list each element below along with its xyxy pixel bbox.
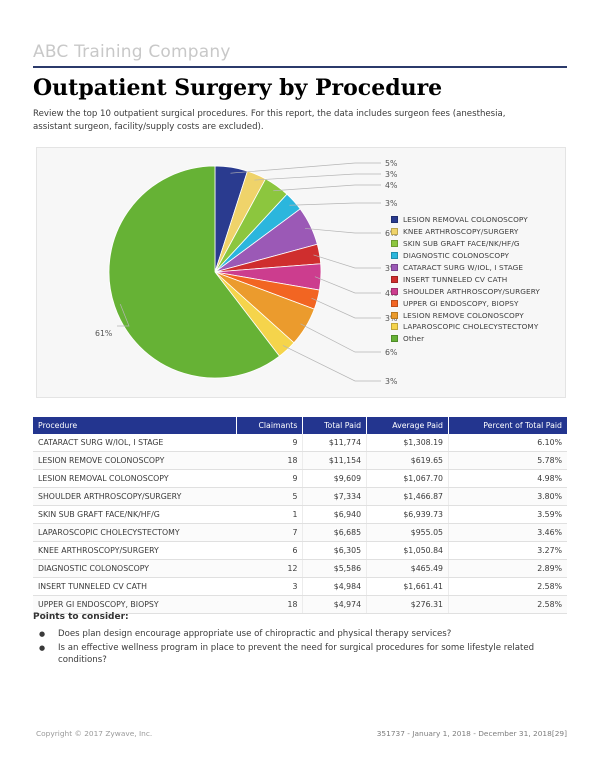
cell-procedure: LESION REMOVAL COLONOSCOPY bbox=[33, 470, 237, 488]
legend-item-label: UPPER GI ENDOSCOPY, BIOPSY bbox=[403, 299, 519, 308]
points-to-consider-list: ●Does plan design encourage appropriate … bbox=[33, 628, 567, 668]
column-header-average-paid[interactable]: Average Paid bbox=[367, 417, 449, 434]
pie-value-label: 3% bbox=[385, 199, 397, 208]
legend-item-label: CATARACT SURG W/IOL, I STAGE bbox=[403, 263, 523, 272]
point-item: ●Is an effective wellness program in pla… bbox=[33, 642, 567, 667]
legend-swatch-icon bbox=[391, 252, 398, 259]
cell-total-paid: $5,586 bbox=[303, 560, 367, 578]
pie-value-label: 4% bbox=[385, 181, 397, 190]
legend-swatch-icon bbox=[391, 300, 398, 307]
table-row[interactable]: LESION REMOVAL COLONOSCOPY9$9,609$1,067.… bbox=[33, 470, 567, 488]
legend-item[interactable]: LAPAROSCOPIC CHOLECYSTECTOMY bbox=[391, 321, 563, 333]
header-divider bbox=[33, 66, 567, 68]
legend-item[interactable]: INSERT TUNNELED CV CATH bbox=[391, 273, 563, 285]
cell-percent: 2.58% bbox=[449, 596, 567, 614]
legend-item-label: SKIN SUB GRAFT FACE/NK/HF/G bbox=[403, 239, 520, 248]
cell-average-paid: $955.05 bbox=[367, 524, 449, 542]
cell-total-paid: $11,774 bbox=[303, 434, 367, 452]
cell-average-paid: $276.31 bbox=[367, 596, 449, 614]
column-header-claimants[interactable]: Claimants bbox=[237, 417, 303, 434]
cell-average-paid: $465.49 bbox=[367, 560, 449, 578]
procedures-table: Procedure Claimants Total Paid Average P… bbox=[33, 417, 567, 614]
column-header-percent-of-total-paid[interactable]: Percent of Total Paid bbox=[449, 417, 567, 434]
cell-average-paid: $619.65 bbox=[367, 452, 449, 470]
cell-procedure: DIAGNOSTIC COLONOSCOPY bbox=[33, 560, 237, 578]
cell-claimants: 12 bbox=[237, 560, 303, 578]
cell-procedure: INSERT TUNNELED CV CATH bbox=[33, 578, 237, 596]
cell-average-paid: $1,067.70 bbox=[367, 470, 449, 488]
pie-chart-panel: 5%3%4%3%6%3%4%3%6%3%61% LESION REMOVAL C… bbox=[36, 147, 566, 398]
cell-total-paid: $7,334 bbox=[303, 488, 367, 506]
cell-total-paid: $11,154 bbox=[303, 452, 367, 470]
legend-item-label: INSERT TUNNELED CV CATH bbox=[403, 275, 507, 284]
legend-swatch-icon bbox=[391, 228, 398, 235]
cell-percent: 2.58% bbox=[449, 578, 567, 596]
cell-average-paid: $1,050.84 bbox=[367, 542, 449, 560]
cell-procedure: SKIN SUB GRAFT FACE/NK/HF/G bbox=[33, 506, 237, 524]
cell-procedure: KNEE ARTHROSCOPY/SURGERY bbox=[33, 542, 237, 560]
cell-procedure: SHOULDER ARTHROSCOPY/SURGERY bbox=[33, 488, 237, 506]
cell-claimants: 7 bbox=[237, 524, 303, 542]
column-header-procedure[interactable]: Procedure bbox=[33, 417, 237, 434]
cell-procedure: LAPAROSCOPIC CHOLECYSTECTOMY bbox=[33, 524, 237, 542]
pie-value-label: 61% bbox=[95, 329, 112, 338]
point-item-text: Does plan design encourage appropriate u… bbox=[58, 629, 451, 639]
pie-slices bbox=[109, 166, 321, 378]
legend-item[interactable]: LESION REMOVE COLONOSCOPY bbox=[391, 309, 563, 321]
bullet-icon: ● bbox=[39, 642, 45, 655]
legend-swatch-icon bbox=[391, 216, 398, 223]
table-header-row: Procedure Claimants Total Paid Average P… bbox=[33, 417, 567, 434]
table-row[interactable]: UPPER GI ENDOSCOPY, BIOPSY18$4,974$276.3… bbox=[33, 596, 567, 614]
legend-item[interactable]: Other bbox=[391, 333, 563, 345]
bullet-icon: ● bbox=[39, 628, 45, 641]
footer-report-period: 351737 - January 1, 2018 - December 31, … bbox=[377, 729, 567, 738]
cell-percent: 6.10% bbox=[449, 434, 567, 452]
legend-item[interactable]: SHOULDER ARTHROSCOPY/SURGERY bbox=[391, 285, 563, 297]
cell-claimants: 6 bbox=[237, 542, 303, 560]
cell-total-paid: $6,685 bbox=[303, 524, 367, 542]
legend-item-label: Other bbox=[403, 334, 424, 343]
cell-procedure: CATARACT SURG W/IOL, I STAGE bbox=[33, 434, 237, 452]
cell-claimants: 18 bbox=[237, 452, 303, 470]
column-header-total-paid[interactable]: Total Paid bbox=[303, 417, 367, 434]
chart-legend: LESION REMOVAL COLONOSCOPYKNEE ARTHROSCO… bbox=[391, 214, 563, 345]
cell-claimants: 18 bbox=[237, 596, 303, 614]
cell-average-paid: $6,939.73 bbox=[367, 506, 449, 524]
legend-item[interactable]: SKIN SUB GRAFT FACE/NK/HF/G bbox=[391, 238, 563, 250]
legend-swatch-icon bbox=[391, 288, 398, 295]
table-row[interactable]: INSERT TUNNELED CV CATH3$4,984$1,661.412… bbox=[33, 578, 567, 596]
table-row[interactable]: LESION REMOVE COLONOSCOPY18$11,154$619.6… bbox=[33, 452, 567, 470]
report-description: Review the top 10 outpatient surgical pr… bbox=[33, 108, 543, 133]
cell-percent: 2.89% bbox=[449, 560, 567, 578]
points-to-consider-heading: Points to consider: bbox=[33, 612, 129, 622]
cell-claimants: 9 bbox=[237, 470, 303, 488]
cell-total-paid: $4,974 bbox=[303, 596, 367, 614]
legend-item[interactable]: LESION REMOVAL COLONOSCOPY bbox=[391, 214, 563, 226]
cell-percent: 3.59% bbox=[449, 506, 567, 524]
legend-swatch-icon bbox=[391, 240, 398, 247]
pie-value-label: 5% bbox=[385, 159, 397, 168]
cell-percent: 4.98% bbox=[449, 470, 567, 488]
table-row[interactable]: SHOULDER ARTHROSCOPY/SURGERY5$7,334$1,46… bbox=[33, 488, 567, 506]
point-item-text: Is an effective wellness program in plac… bbox=[58, 643, 534, 666]
cell-average-paid: $1,661.41 bbox=[367, 578, 449, 596]
cell-total-paid: $4,984 bbox=[303, 578, 367, 596]
legend-item-label: KNEE ARTHROSCOPY/SURGERY bbox=[403, 227, 518, 236]
legend-item[interactable]: UPPER GI ENDOSCOPY, BIOPSY bbox=[391, 297, 563, 309]
footer-copyright: Copyright © 2017 Zywave, Inc. bbox=[36, 729, 152, 738]
cell-percent: 3.80% bbox=[449, 488, 567, 506]
point-item: ●Does plan design encourage appropriate … bbox=[33, 628, 567, 641]
legend-item-label: LAPAROSCOPIC CHOLECYSTECTOMY bbox=[403, 322, 538, 331]
cell-claimants: 9 bbox=[237, 434, 303, 452]
table-body: CATARACT SURG W/IOL, I STAGE9$11,774$1,3… bbox=[33, 434, 567, 614]
cell-total-paid: $9,609 bbox=[303, 470, 367, 488]
cell-claimants: 3 bbox=[237, 578, 303, 596]
legend-swatch-icon bbox=[391, 312, 398, 319]
table-row[interactable]: LAPAROSCOPIC CHOLECYSTECTOMY7$6,685$955.… bbox=[33, 524, 567, 542]
cell-claimants: 5 bbox=[237, 488, 303, 506]
cell-procedure: LESION REMOVE COLONOSCOPY bbox=[33, 452, 237, 470]
cell-percent: 3.27% bbox=[449, 542, 567, 560]
legend-swatch-icon bbox=[391, 323, 398, 330]
cell-average-paid: $1,466.87 bbox=[367, 488, 449, 506]
legend-item[interactable]: DIAGNOSTIC COLONOSCOPY bbox=[391, 250, 563, 262]
pie-value-label: 6% bbox=[385, 348, 397, 357]
cell-total-paid: $6,940 bbox=[303, 506, 367, 524]
pie-value-label: 3% bbox=[385, 377, 397, 386]
legend-item-label: LESION REMOVAL COLONOSCOPY bbox=[403, 215, 528, 224]
cell-procedure: UPPER GI ENDOSCOPY, BIOPSY bbox=[33, 596, 237, 614]
page-title: Outpatient Surgery by Procedure bbox=[33, 75, 442, 101]
legend-swatch-icon bbox=[391, 335, 398, 342]
legend-item[interactable]: KNEE ARTHROSCOPY/SURGERY bbox=[391, 226, 563, 238]
cell-total-paid: $6,305 bbox=[303, 542, 367, 560]
legend-item[interactable]: CATARACT SURG W/IOL, I STAGE bbox=[391, 262, 563, 274]
table-row[interactable]: CATARACT SURG W/IOL, I STAGE9$11,774$1,3… bbox=[33, 434, 567, 452]
legend-item-label: SHOULDER ARTHROSCOPY/SURGERY bbox=[403, 287, 540, 296]
table-row[interactable]: SKIN SUB GRAFT FACE/NK/HF/G1$6,940$6,939… bbox=[33, 506, 567, 524]
table-row[interactable]: KNEE ARTHROSCOPY/SURGERY6$6,305$1,050.84… bbox=[33, 542, 567, 560]
cell-claimants: 1 bbox=[237, 506, 303, 524]
legend-swatch-icon bbox=[391, 264, 398, 271]
report-page: ABC Training Company Outpatient Surgery … bbox=[0, 0, 600, 776]
legend-swatch-icon bbox=[391, 276, 398, 283]
table-row[interactable]: DIAGNOSTIC COLONOSCOPY12$5,586$465.492.8… bbox=[33, 560, 567, 578]
cell-average-paid: $1,308.19 bbox=[367, 434, 449, 452]
legend-item-label: LESION REMOVE COLONOSCOPY bbox=[403, 311, 524, 320]
pie-value-label: 3% bbox=[385, 170, 397, 179]
chart-area: 5%3%4%3%6%3%4%3%6%3%61% LESION REMOVAL C… bbox=[37, 148, 567, 399]
legend-item-label: DIAGNOSTIC COLONOSCOPY bbox=[403, 251, 509, 260]
company-name: ABC Training Company bbox=[33, 42, 231, 62]
cell-percent: 3.46% bbox=[449, 524, 567, 542]
cell-percent: 5.78% bbox=[449, 452, 567, 470]
